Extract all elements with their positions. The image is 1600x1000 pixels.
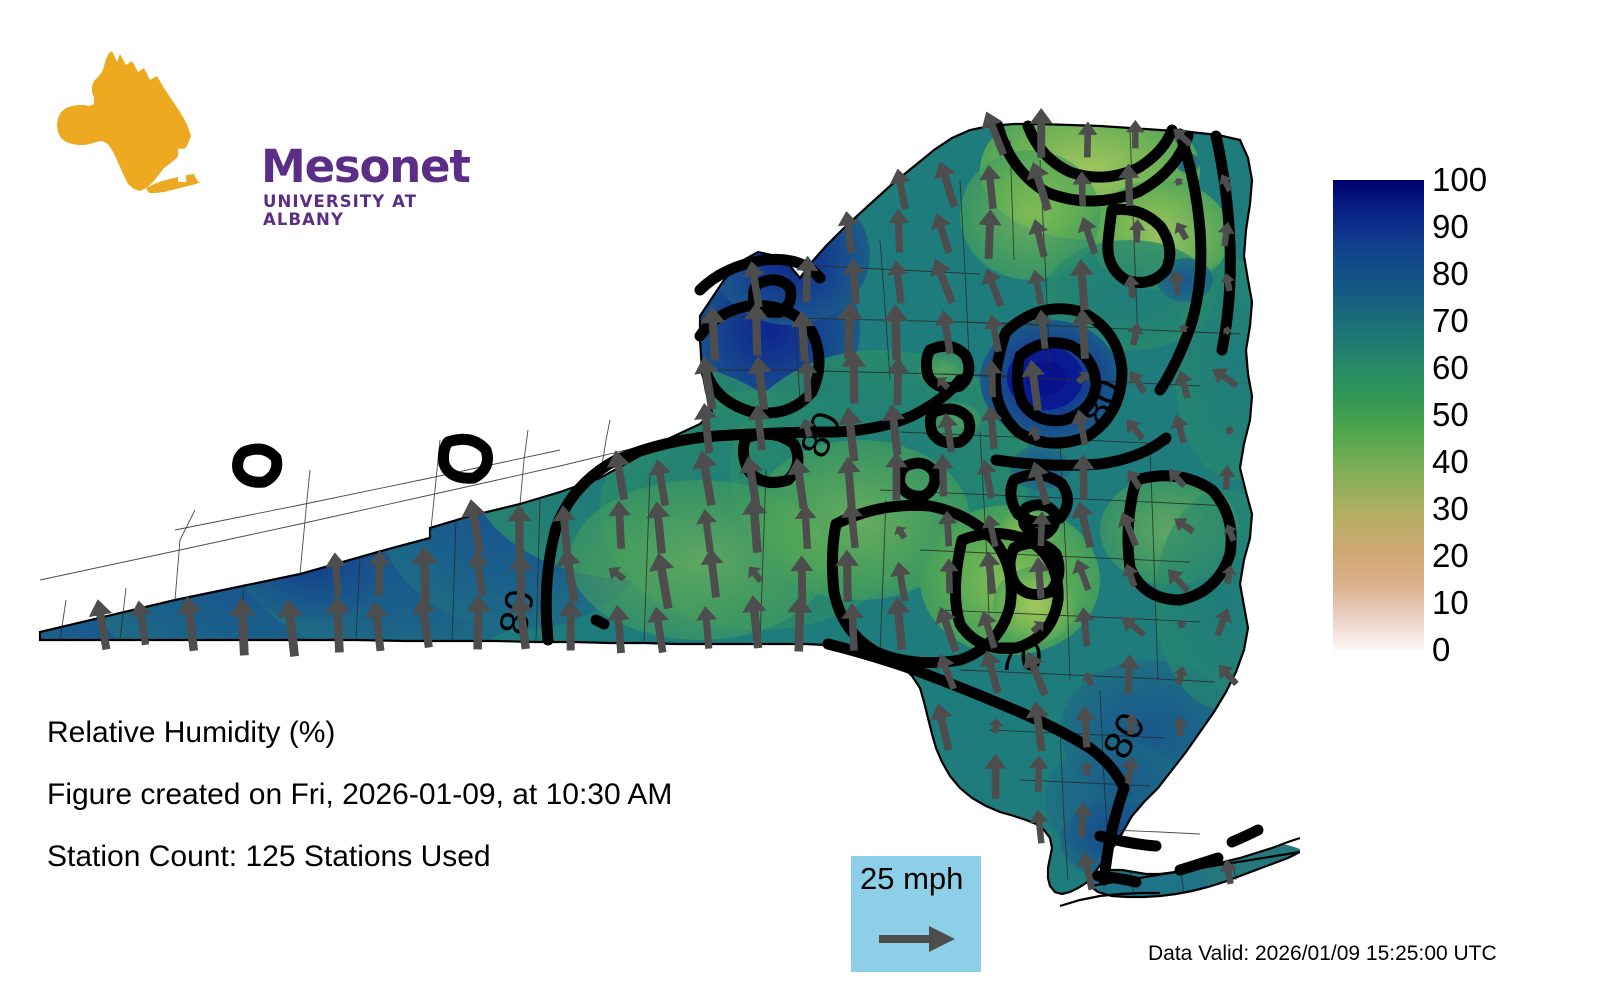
wind-speed-legend: 25 mph: [851, 856, 981, 972]
caption-block: Relative Humidity (%) Figure created on …: [47, 718, 807, 904]
colorbar-tick-60: 60: [1432, 351, 1552, 385]
colorbar-tick-20: 20: [1432, 539, 1552, 573]
wind-legend-label: 25 mph: [860, 862, 963, 896]
colorbar-tick-30: 30: [1432, 492, 1552, 526]
colorbar-tick-labels: 100 90 80 70 60 50 40 30 20 10 0: [1432, 154, 1562, 674]
figure-created-text: Figure created on Fri, 2026-01-09, at 10…: [47, 780, 807, 810]
map-title: Relative Humidity (%): [47, 718, 807, 748]
colorbar-tick-50: 50: [1432, 398, 1552, 432]
colorbar-tick-70: 70: [1432, 304, 1552, 338]
colorbar-tick-90: 90: [1432, 210, 1552, 244]
station-count-text: Station Count: 125 Stations Used: [47, 842, 807, 872]
colorbar-gradient: [1333, 180, 1424, 650]
data-valid-text: Data Valid: 2026/01/09 15:25:00 UTC: [1148, 942, 1497, 966]
colorbar-tick-0: 0: [1432, 633, 1552, 667]
colorbar-tick-10: 10: [1432, 586, 1552, 620]
colorbar-tick-80: 80: [1432, 257, 1552, 291]
colorbar-tick-40: 40: [1432, 445, 1552, 479]
colorbar-tick-100: 100: [1432, 163, 1552, 197]
colorbar: 100 90 80 70 60 50 40 30 20 10 0: [1333, 180, 1573, 655]
wind-arrow-icon: [879, 922, 957, 956]
